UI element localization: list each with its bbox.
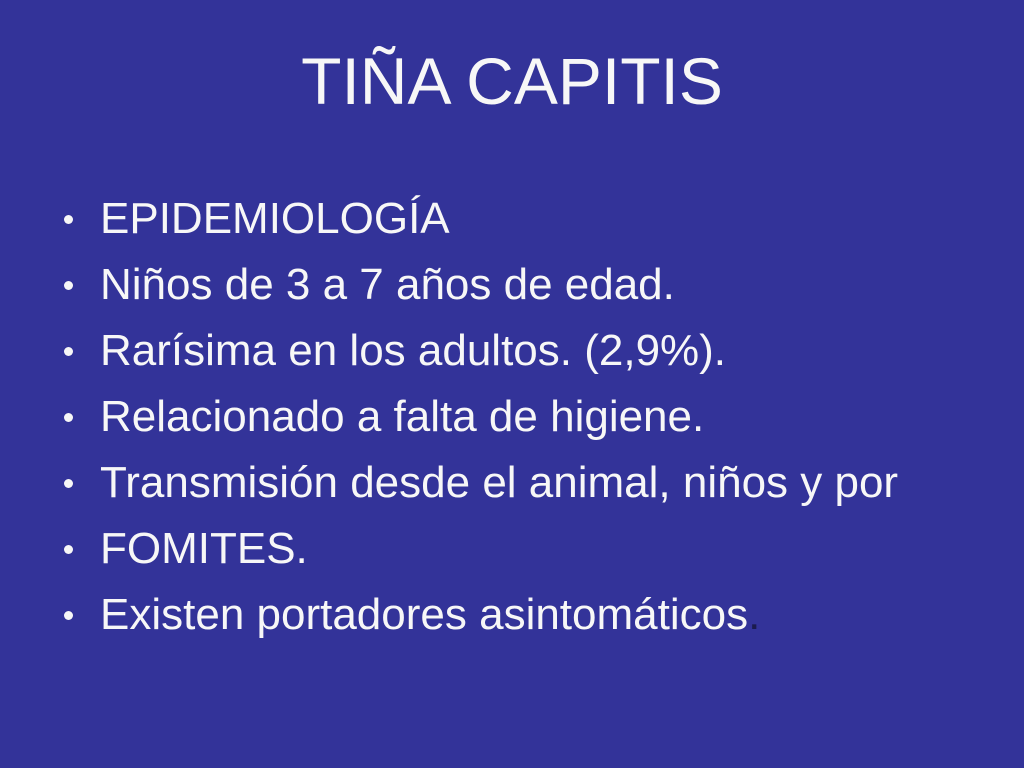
bullet-dot-icon <box>64 545 73 554</box>
list-item: EPIDEMIOLOGÍA <box>56 186 996 252</box>
list-item: Transmisión desde el animal, niños y por <box>56 450 996 516</box>
bullet-dot-icon <box>64 281 73 290</box>
list-item-label: EPIDEMIOLOGÍA <box>100 194 450 243</box>
list-item: Niños de 3 a 7 años de edad. <box>56 252 996 318</box>
page-title: TIÑA CAPITIS <box>0 48 1024 114</box>
bullet-list: EPIDEMIOLOGÍA Niños de 3 a 7 años de eda… <box>56 186 996 648</box>
presentation-slide: TIÑA CAPITIS EPIDEMIOLOGÍA Niños de 3 a … <box>0 0 1024 768</box>
bullet-dot-icon <box>64 215 73 224</box>
bullet-dot-icon <box>64 479 73 488</box>
bullet-dot-icon <box>64 413 73 422</box>
list-item-label: Transmisión desde el animal, niños y por <box>100 458 898 507</box>
list-item: Relacionado a falta de higiene. <box>56 384 996 450</box>
list-item-label: Niños de 3 a 7 años de edad. <box>100 260 675 309</box>
list-item: Existen portadores asintomáticos. <box>56 582 996 648</box>
bullet-dot-icon <box>64 347 73 356</box>
bullet-dot-icon <box>64 611 73 620</box>
list-item: Rarísima en los adultos. (2,9%). <box>56 318 996 384</box>
list-item-label: FOMITES. <box>100 524 308 573</box>
list-item-label: Rarísima en los adultos. (2,9%). <box>100 326 726 375</box>
list-item-trailing-period: . <box>748 590 760 639</box>
list-item: FOMITES. <box>56 516 996 582</box>
list-item-label: Relacionado a falta de higiene. <box>100 392 704 441</box>
list-item-label: Existen portadores asintomáticos <box>100 590 748 639</box>
